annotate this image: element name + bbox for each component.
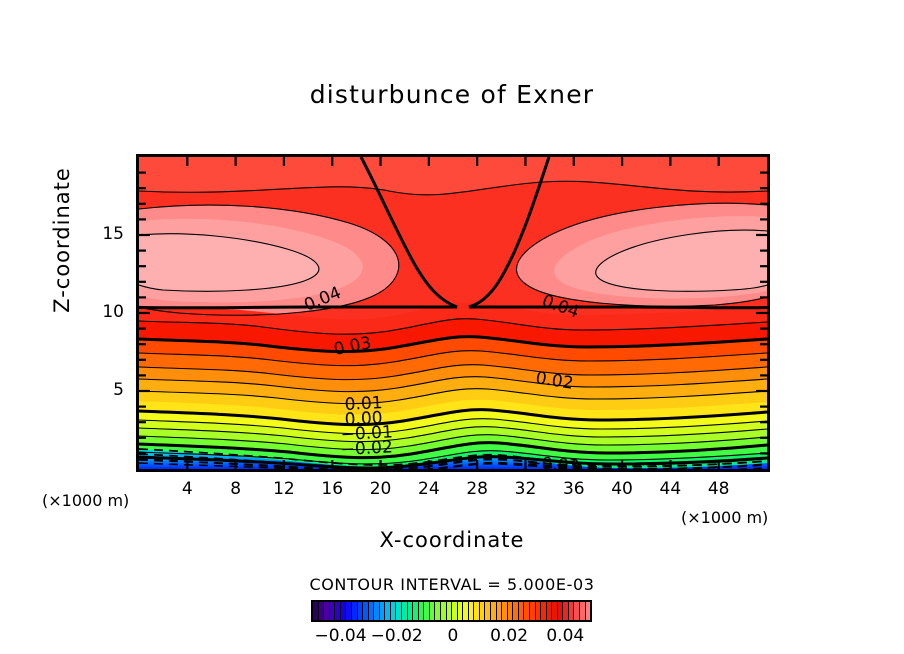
filled-bands xyxy=(139,157,767,469)
contour-plot-area: 0.04 0.04 0.03 0.02 0.01 0.00 −0.01 −0.0… xyxy=(136,154,770,472)
colorbar-tick-label: 0.04 xyxy=(535,626,595,646)
colorbar xyxy=(311,600,592,622)
y-tick-label: 5 xyxy=(84,380,124,400)
y-axis-title: Z-coordinate xyxy=(50,130,74,350)
contour-label-neg-0-02: −0.02 xyxy=(340,437,393,460)
x-tick-label: 24 xyxy=(409,479,449,499)
x-tick-label: 36 xyxy=(554,479,594,499)
x-tick-label: 44 xyxy=(650,479,690,499)
x-tick-label: 48 xyxy=(699,479,739,499)
y-tick-label: 10 xyxy=(84,302,124,322)
x-tick-label: 28 xyxy=(457,479,497,499)
colorbar-tick-label: 0 xyxy=(423,626,483,646)
figure-canvas: disturbunce of Exner xyxy=(0,0,904,654)
y-axis-unit-note: (×1000 m) xyxy=(42,491,129,510)
colorbar-tick-labels: −0.04−0.0200.020.04 xyxy=(311,626,592,650)
x-tick-label: 4 xyxy=(167,479,207,499)
colorbar-tick-label: 0.02 xyxy=(479,626,539,646)
contour-label-neg-0-03: −0.03 xyxy=(527,453,580,469)
page-title: disturbunce of Exner xyxy=(0,80,904,109)
x-axis-unit-note: (×1000 m) xyxy=(681,508,768,527)
x-tick-label: 40 xyxy=(602,479,642,499)
colorbar-cell xyxy=(586,602,591,620)
x-tick-label: 16 xyxy=(312,479,352,499)
x-tick-label: 20 xyxy=(361,479,401,499)
x-tick-label: 32 xyxy=(505,479,545,499)
x-axis-title: X-coordinate xyxy=(0,528,904,552)
x-tick-label: 12 xyxy=(264,479,304,499)
contour-field: 0.04 0.04 0.03 0.02 0.01 0.00 −0.01 −0.0… xyxy=(139,157,767,469)
colorbar-tick-label: −0.02 xyxy=(367,626,427,646)
colorbar-tick-label: −0.04 xyxy=(311,626,371,646)
contour-interval-caption: CONTOUR INTERVAL = 5.000E-03 xyxy=(0,575,904,594)
x-tick-label: 8 xyxy=(216,479,256,499)
y-tick-label: 15 xyxy=(84,224,124,244)
